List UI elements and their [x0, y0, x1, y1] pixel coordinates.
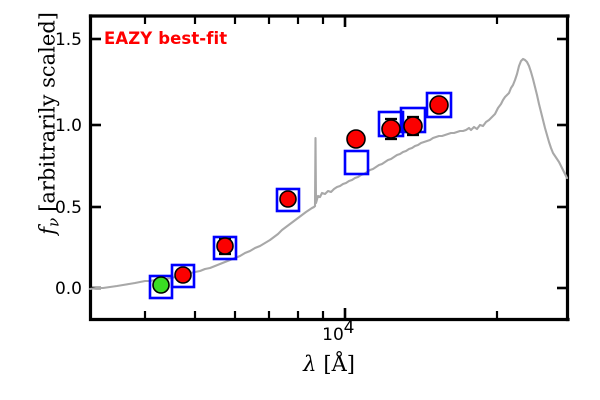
photometry-point	[404, 117, 422, 135]
y-axis-unit: [arbitrarily scaled]	[36, 12, 60, 212]
figure-canvas: 1.5 1.0 0.5 0.0 10 4	[0, 0, 600, 400]
y-axis-ticks	[90, 39, 568, 288]
spectrum-curve-group	[90, 59, 567, 289]
x-tick-labels: 10 4	[322, 318, 354, 345]
x-axis-unit: [Å]	[323, 352, 355, 376]
photometry-point	[175, 267, 191, 283]
x-tick-label-1e4-exponent: 4	[344, 318, 355, 338]
x-tick-label-1e4-mantissa: 10	[322, 325, 344, 345]
photometry-point	[430, 96, 448, 114]
x-axis-symbol: λ	[303, 352, 316, 376]
y-tick-label-0p0: 0.0	[55, 279, 82, 299]
photometry-point	[280, 191, 296, 207]
y-axis-title: fν[arbitrarily scaled]	[36, 0, 63, 268]
x-axis-title: λ[Å]	[89, 352, 569, 376]
photometry-point	[347, 130, 365, 148]
best-fit-annotation-label: EAZY best-fit	[104, 29, 227, 48]
photometry-point-green	[153, 277, 169, 293]
plot-frame	[91, 16, 569, 320]
observed-photometry-points	[153, 96, 448, 293]
y-axis-subscript: ν	[44, 218, 62, 227]
x-axis-ticks	[145, 16, 497, 319]
spectral-energy-distribution-plot: 1.5 1.0 0.5 0.0 10 4	[0, 0, 600, 400]
best-fit-spectrum-line	[90, 206, 315, 289]
photometry-point	[217, 238, 233, 254]
y-axis-symbol: f	[36, 227, 60, 235]
photometry-point	[382, 120, 400, 138]
model-square	[345, 151, 368, 174]
